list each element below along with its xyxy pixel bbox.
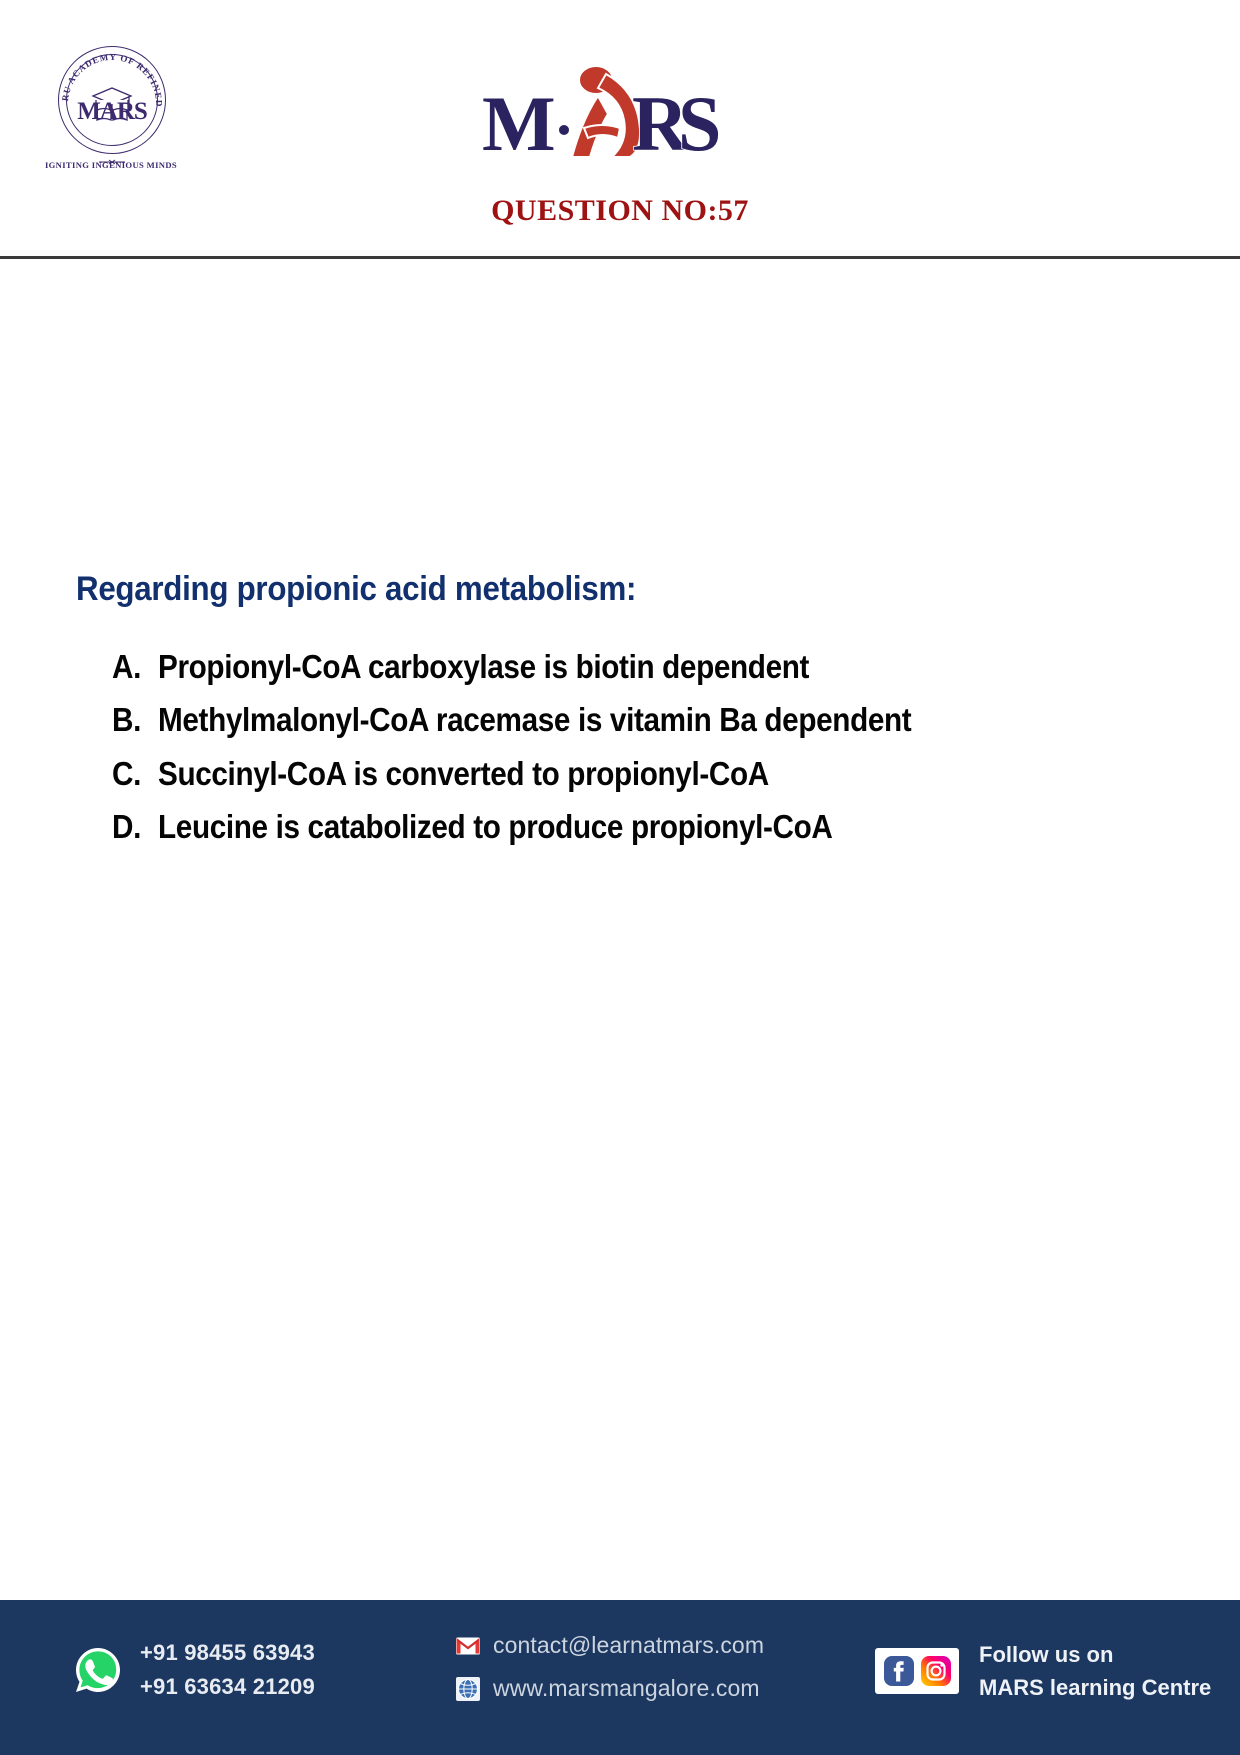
logo-letter-s: S xyxy=(678,80,720,158)
page-header: MANGALURU ACADEMY OF REFINED STUDIES MAR… xyxy=(0,0,1240,258)
option-text-d: Leucine is catabolized to produce propio… xyxy=(158,800,1026,853)
mars-brand-logo: M R S xyxy=(480,58,720,158)
option-letter-b: B. xyxy=(112,693,153,746)
follow-us-text: Follow us on MARS learning Centre xyxy=(979,1638,1211,1704)
facebook-icon xyxy=(883,1655,915,1687)
phone-number-1: +91 98455 63943 xyxy=(140,1636,315,1670)
logo-dot xyxy=(559,125,569,135)
page-footer: +91 98455 63943 +91 63634 21209 co xyxy=(0,1600,1240,1755)
question-stem: Regarding propionic acid metabolism: xyxy=(76,570,636,609)
phone-numbers: +91 98455 63943 +91 63634 21209 xyxy=(140,1636,315,1704)
seal-tagline: IGNITING INGENIOUS MINDS xyxy=(36,160,186,170)
option-item-a[interactable]: A. Propionyl-CoA carboxylase is biotin d… xyxy=(112,640,1122,693)
option-item-b[interactable]: B. Methylmalonyl-CoA racemase is vitamin… xyxy=(112,693,1122,746)
option-item-d[interactable]: D. Leucine is catabolized to produce pro… xyxy=(112,800,1122,853)
mars-runner-icon xyxy=(572,66,640,157)
option-text-a: Propionyl-CoA carboxylase is biotin depe… xyxy=(158,640,1026,693)
gmail-icon xyxy=(455,1633,481,1659)
website-line[interactable]: www.marsmangalore.com xyxy=(455,1675,764,1702)
footer-whatsapp-group: +91 98455 63943 +91 63634 21209 xyxy=(74,1636,315,1704)
follow-line-2: MARS learning Centre xyxy=(979,1671,1211,1704)
header-divider xyxy=(0,256,1240,259)
social-icons-badge xyxy=(875,1648,959,1694)
academy-seal-logo: MANGALURU ACADEMY OF REFINED STUDIES MAR… xyxy=(36,44,186,174)
logo-letter-m: M xyxy=(482,80,556,158)
email-line[interactable]: contact@learnatmars.com xyxy=(455,1632,764,1659)
seal-center-word: MARS xyxy=(70,99,154,124)
option-item-c[interactable]: C. Succinyl-CoA is converted to propiony… xyxy=(112,747,1122,800)
option-letter-c: C. xyxy=(112,747,153,800)
option-letter-a: A. xyxy=(112,640,153,693)
website-url: www.marsmangalore.com xyxy=(493,1675,760,1702)
follow-line-1: Follow us on xyxy=(979,1638,1211,1671)
email-address: contact@learnatmars.com xyxy=(493,1632,764,1659)
option-list: A. Propionyl-CoA carboxylase is biotin d… xyxy=(112,640,1122,854)
whatsapp-icon[interactable] xyxy=(74,1646,122,1694)
question-number-heading: QUESTION NO:57 xyxy=(0,194,1240,228)
footer-contact-group: contact@learnatmars.com xyxy=(455,1632,764,1702)
option-letter-d: D. xyxy=(112,800,153,853)
seal-divider-ornament xyxy=(99,152,125,158)
globe-icon xyxy=(455,1676,481,1702)
instagram-icon xyxy=(920,1655,952,1687)
option-text-b: Methylmalonyl-CoA racemase is vitamin Ba… xyxy=(158,693,1026,746)
option-text-c: Succinyl-CoA is converted to propionyl-C… xyxy=(158,747,1026,800)
footer-social-group: Follow us on MARS learning Centre xyxy=(875,1638,1211,1704)
phone-number-2: +91 63634 21209 xyxy=(140,1670,315,1704)
